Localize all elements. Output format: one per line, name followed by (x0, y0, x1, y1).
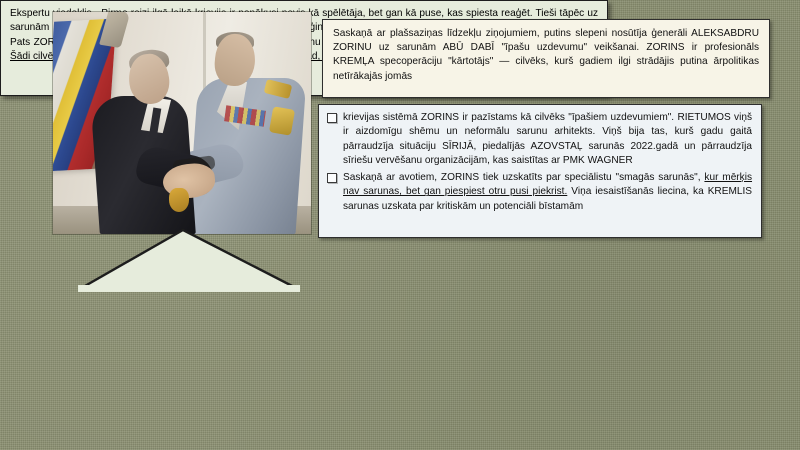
list-item: Saskaņā ar avotiem, ZORINS tiek uzskatīt… (327, 171, 752, 214)
uniform-badge (269, 106, 295, 135)
callout-pointer (78, 228, 300, 292)
summary-text-box: Saskaņā ar plašsaziņas līdzekļu ziņojumi… (322, 19, 770, 98)
handshake-photo (53, 12, 311, 234)
square-bullet-icon (327, 113, 337, 123)
square-bullet-icon (327, 173, 337, 183)
bullet-list: krievijas sistēmā ZORINS ir pazīstams kā… (327, 111, 752, 214)
award-medal (169, 188, 189, 212)
list-item: krievijas sistēmā ZORINS ir pazīstams kā… (327, 111, 752, 168)
list-item-lead: Saskaņā ar avotiem, ZORINS tiek uzskatīt… (343, 172, 701, 183)
list-item-text: krievijas sistēmā ZORINS ir pazīstams kā… (343, 112, 752, 166)
bullet-list-box: krievijas sistēmā ZORINS ir pazīstams kā… (318, 104, 762, 238)
slide-canvas: Saskaņā ar plašsaziņas līdzekļu ziņojumi… (0, 0, 800, 450)
